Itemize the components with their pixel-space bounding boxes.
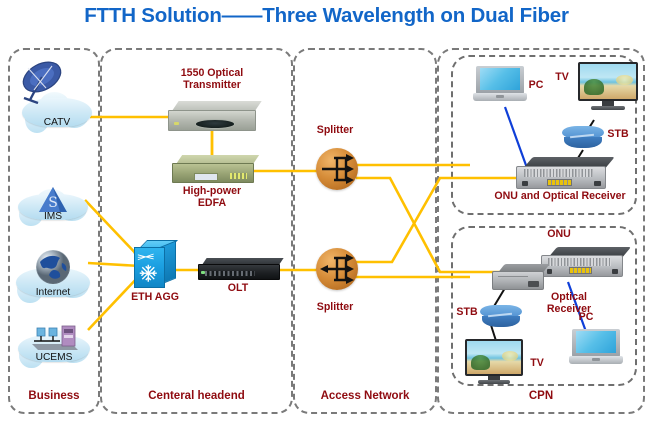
- onu-router-icon-bottom: [541, 247, 621, 277]
- pc-bottom-label: PC: [573, 312, 599, 324]
- edfa-label: High-power EDFA: [156, 186, 268, 210]
- zone-cpn-label: CPN: [437, 390, 645, 402]
- onu-router-icon-top: [516, 157, 604, 189]
- tv-top-label: TV: [549, 72, 575, 84]
- tv-bottom-label: TV: [524, 358, 550, 370]
- switch-icon-eth-agg: [134, 240, 176, 288]
- cloud-ucems-label: UCEMS: [18, 352, 90, 363]
- set-top-box-icon-top: [562, 126, 604, 148]
- stb-bottom-label: STB: [452, 307, 482, 319]
- television-icon-bottom: [465, 339, 523, 386]
- globe-icon: [36, 250, 70, 284]
- optical-receiver-icon: [492, 264, 542, 290]
- cloud-catv-label: CATV: [22, 117, 92, 128]
- onu-top-label: ONU and Optical Receiver: [466, 191, 653, 203]
- svg-text:S: S: [48, 195, 58, 211]
- television-icon-top: [578, 62, 638, 112]
- splitter-bottom-label: Splitter: [300, 302, 370, 314]
- zone-access-label: Access Network: [293, 390, 437, 402]
- rack-unit-icon-transmitter: [168, 101, 254, 131]
- server-rack-icon: [28, 322, 80, 352]
- ftth-diagram: FTTH Solution——Three Wavelength on Dual …: [0, 0, 653, 422]
- splitter-top-label: Splitter: [300, 125, 370, 137]
- zone-access: [293, 48, 437, 414]
- onu-bottom-label: ONU: [534, 229, 584, 241]
- laptop-icon-top: [473, 66, 527, 106]
- zone-business-label: Business: [8, 390, 100, 402]
- page-title: FTTH Solution——Three Wavelength on Dual …: [0, 4, 653, 28]
- stb-top-label: STB: [603, 129, 633, 141]
- splitter-icon-top: [316, 148, 358, 190]
- eth-agg-label: ETH AGG: [108, 292, 202, 304]
- laptop-icon-bottom: [569, 329, 623, 369]
- pc-top-label: PC: [521, 80, 551, 92]
- optical-transmitter-label: 1550 Optical Transmitter: [156, 68, 268, 92]
- pyramid-icon: S: [38, 186, 68, 214]
- set-top-box-icon-bottom: [480, 305, 522, 327]
- rack-switch-icon-olt: [198, 258, 278, 280]
- splitter-icon-bottom: [316, 248, 358, 290]
- rack-unit-icon-edfa: [172, 155, 252, 183]
- zone-headend-label: Centeral headend: [100, 390, 293, 402]
- satellite-dish-icon: [18, 60, 64, 104]
- olt-label: OLT: [208, 283, 268, 295]
- cloud-internet-label: Internet: [16, 287, 90, 298]
